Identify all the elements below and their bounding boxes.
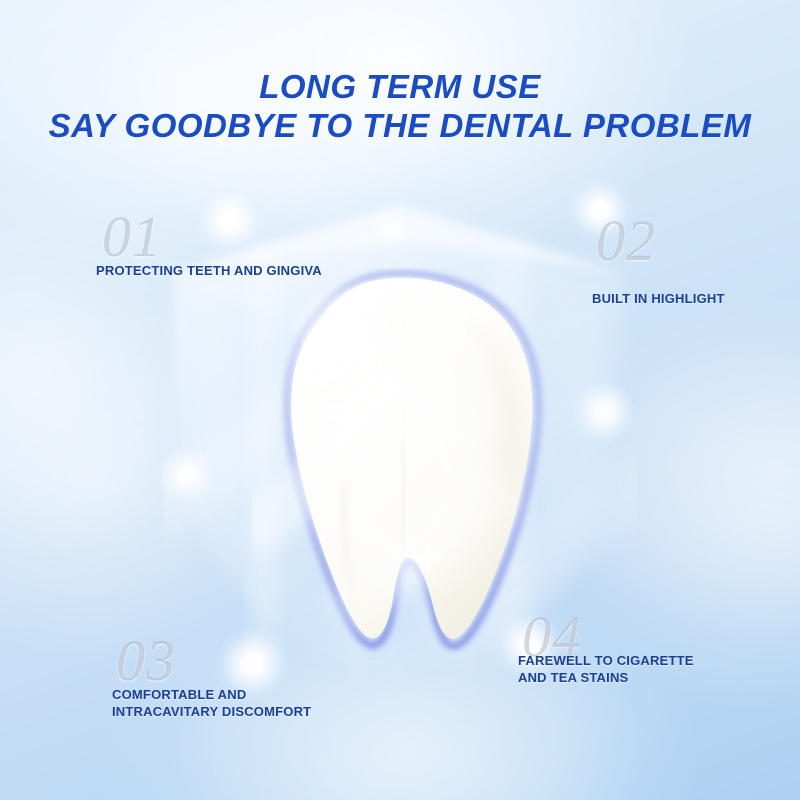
white-tooth	[252, 268, 552, 668]
feature-04-line-2: AND TEA STAINS	[518, 669, 694, 686]
feature-01-number: 01	[102, 208, 162, 266]
poster-headings: LONG TERM USE SAY GOODBYE TO THE DENTAL …	[0, 68, 800, 146]
feature-02-label: BUILT IN HIGHLIGHT	[592, 290, 725, 307]
heading-line-2: SAY GOODBYE TO THE DENTAL PROBLEM	[0, 107, 800, 146]
feature-04-line-1: FAREWELL TO CIGARETTE	[518, 652, 694, 669]
heading-line-1: LONG TERM USE	[0, 68, 800, 107]
feature-04-label: FAREWELL TO CIGARETTE AND TEA STAINS	[518, 652, 694, 687]
feature-03-label: COMFORTABLE AND INTRACAVITARY DISCOMFORT	[112, 686, 311, 721]
feature-02-line-1: BUILT IN HIGHLIGHT	[592, 290, 725, 307]
feature-01-label: PROTECTING TEETH AND GINGIVA	[96, 262, 322, 279]
feature-01-line-1: PROTECTING TEETH AND GINGIVA	[96, 262, 322, 279]
feature-03-line-2: INTRACAVITARY DISCOMFORT	[112, 703, 311, 720]
dental-promo-poster: LONG TERM USE SAY GOODBYE TO THE DENTAL …	[0, 0, 800, 800]
feature-03-line-1: COMFORTABLE AND	[112, 686, 311, 703]
